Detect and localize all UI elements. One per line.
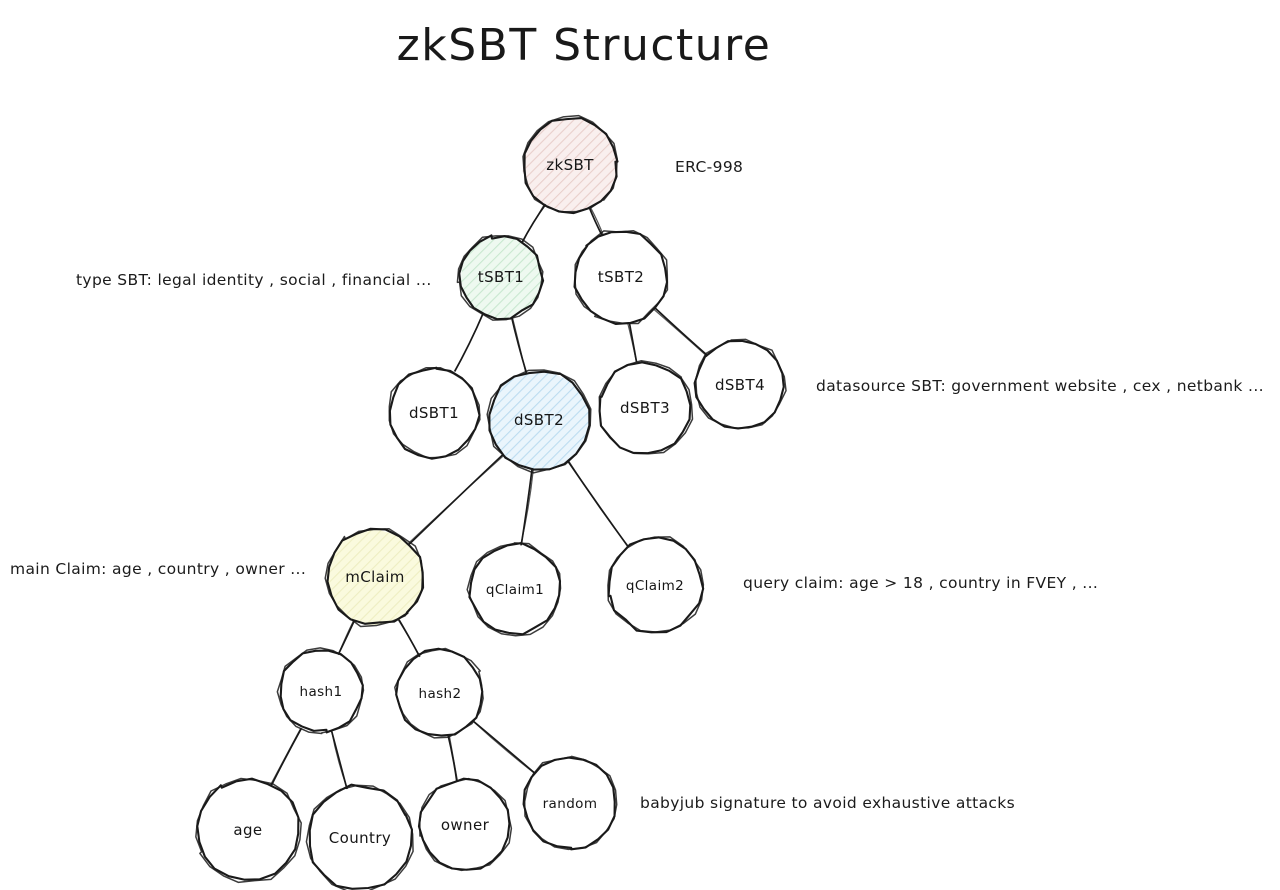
edge-hash2-to-random (471, 719, 537, 775)
edge-tsbt1-to-dsbt1 (453, 312, 484, 374)
node-dsbt4[interactable]: dSBT4 (695, 339, 786, 428)
node-label-hash2: hash2 (418, 686, 461, 702)
annotation-babyjub: babyjub signature to avoid exhaustive at… (640, 794, 1015, 812)
annotation-erc998: ERC-998 (675, 158, 743, 176)
node-dsbt3[interactable]: dSBT3 (598, 361, 692, 454)
node-random[interactable]: random (524, 756, 617, 849)
edge-dsbt2-to-qclaim1 (521, 468, 534, 547)
node-label-dsbt4: dSBT4 (715, 376, 765, 394)
edge-hash1-to-country (331, 729, 347, 790)
node-label-hash1: hash1 (299, 684, 342, 700)
page-title: zkSBT Structure (397, 20, 772, 71)
node-country[interactable]: Country (306, 785, 413, 890)
node-owner[interactable]: owner (419, 779, 511, 871)
node-label-qclaim1: qClaim1 (486, 582, 544, 598)
node-label-owner: owner (441, 816, 490, 834)
node-qclaim2[interactable]: qClaim2 (608, 537, 704, 632)
zksbt-structure-diagram: zkSBTtSBT1tSBT2dSBT1dSBT2dSBT3dSBT4mClai… (0, 0, 1280, 890)
annotation-type-sbt: type SBT: legal identity , social , fina… (76, 271, 432, 289)
node-qclaim1[interactable]: qClaim1 (467, 543, 560, 636)
node-label-random: random (543, 796, 598, 812)
node-label-tsbt2: tSBT2 (598, 268, 644, 286)
diagram-canvas: zkSBTtSBT1tSBT2dSBT1dSBT2dSBT3dSBT4mClai… (0, 0, 1280, 890)
edge-tsbt2-to-dsbt4 (652, 307, 709, 358)
node-hash2[interactable]: hash2 (395, 649, 483, 738)
edge-mclaim-to-hash2 (397, 617, 422, 658)
edge-dsbt2-to-mclaim (408, 453, 505, 545)
edge-dsbt2-to-qclaim2 (567, 459, 630, 548)
nodes-layer: zkSBTtSBT1tSBT2dSBT1dSBT2dSBT3dSBT4mClai… (196, 116, 786, 890)
annotation-main-claim: main Claim: age , country , owner ... (10, 560, 306, 578)
node-tsbt1[interactable]: tSBT1 (457, 235, 543, 320)
node-label-dsbt2: dSBT2 (514, 411, 564, 429)
annotation-query-claim: query claim: age > 18 , country in FVEY … (743, 574, 1098, 592)
node-label-mclaim: mClaim (345, 568, 405, 586)
node-hash1[interactable]: hash1 (277, 648, 363, 734)
node-tsbt2[interactable]: tSBT2 (575, 231, 668, 324)
edge-hash1-to-age (269, 726, 302, 788)
node-label-dsbt3: dSBT3 (620, 399, 670, 417)
edge-hash2-to-owner (448, 732, 458, 784)
node-dsbt2[interactable]: dSBT2 (487, 370, 591, 473)
edge-tsbt2-to-dsbt3 (627, 320, 637, 365)
node-label-tsbt1: tSBT1 (478, 268, 524, 286)
node-age[interactable]: age (196, 778, 301, 882)
node-label-country: Country (329, 829, 391, 847)
node-label-dsbt1: dSBT1 (409, 404, 459, 422)
annotation-datasource: datasource SBT: government website , cex… (816, 377, 1264, 395)
node-label-age: age (233, 821, 262, 839)
node-dsbt1[interactable]: dSBT1 (389, 368, 480, 459)
edge-tsbt1-to-dsbt2 (511, 315, 527, 374)
node-label-qclaim2: qClaim2 (626, 578, 684, 594)
node-label-zksbt: zkSBT (546, 156, 594, 174)
node-zksbt[interactable]: zkSBT (523, 116, 618, 214)
edge-mclaim-to-hash1 (337, 617, 355, 656)
edge-zksbt-to-tsbt1 (521, 203, 546, 244)
